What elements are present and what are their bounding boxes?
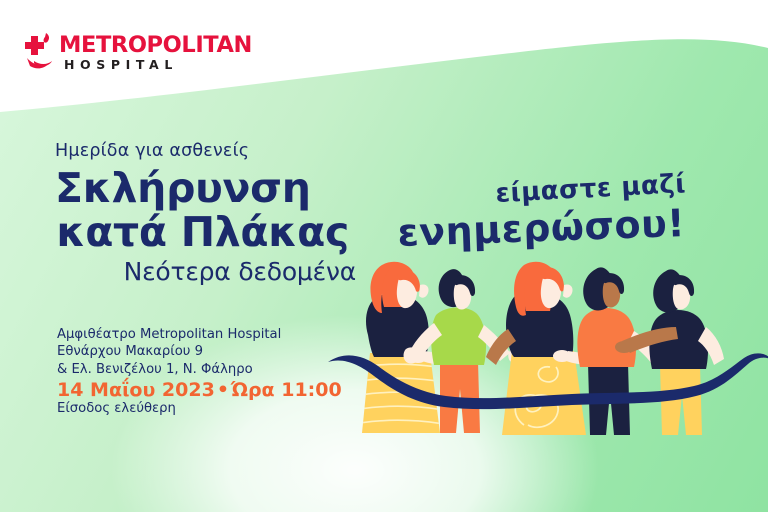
logo-subwordmark: HOSPITAL	[64, 57, 178, 72]
event-kicker: Ημερίδα για ασθενείς	[55, 141, 249, 161]
venue-block: Αμφιθέατρο Metropolitan Hospital Εθνάρχο…	[57, 326, 281, 378]
event-datetime: 14 Μαΐου 2023•Ώρα 11:00	[57, 379, 342, 401]
poster-canvas: METROPOLITAN HOSPITAL Ημερίδα για ασθενε…	[0, 0, 768, 512]
page-title: Σκλήρυνση κατά Πλάκας	[55, 166, 355, 254]
five-people-embracing-illustration	[360, 255, 760, 455]
venue-line-2: Εθνάρχου Μακαρίου 9	[57, 343, 281, 360]
logo-wordmark: METROPOLITAN	[59, 32, 252, 58]
event-date: 14 Μαΐου 2023	[57, 379, 215, 401]
figure-5-person-navy-shirt	[615, 269, 724, 435]
slogan-line-2: ενημερώσου!	[397, 201, 686, 255]
venue-line-3: & Ελ. Βενιζέλου 1, Ν. Φάληρο	[57, 361, 281, 378]
metropolitan-hospital-logo[interactable]: METROPOLITAN HOSPITAL	[22, 28, 252, 74]
page-subtitle: Νεότερα δεδομένα	[55, 257, 356, 286]
medical-cross-swoosh-icon	[25, 33, 52, 68]
admission-note: Είσοδος ελεύθερη	[57, 401, 176, 416]
handwritten-slogan: είμαστε μαζί ενημερώσου!	[392, 160, 702, 260]
venue-line-1: Αμφιθέατρο Metropolitan Hospital	[57, 326, 281, 343]
datetime-separator: •	[215, 379, 231, 401]
title-line-1: Σκλήρυνση	[55, 166, 355, 210]
title-line-2: κατά Πλάκας	[55, 210, 355, 254]
event-time: Ώρα 11:00	[231, 379, 342, 401]
